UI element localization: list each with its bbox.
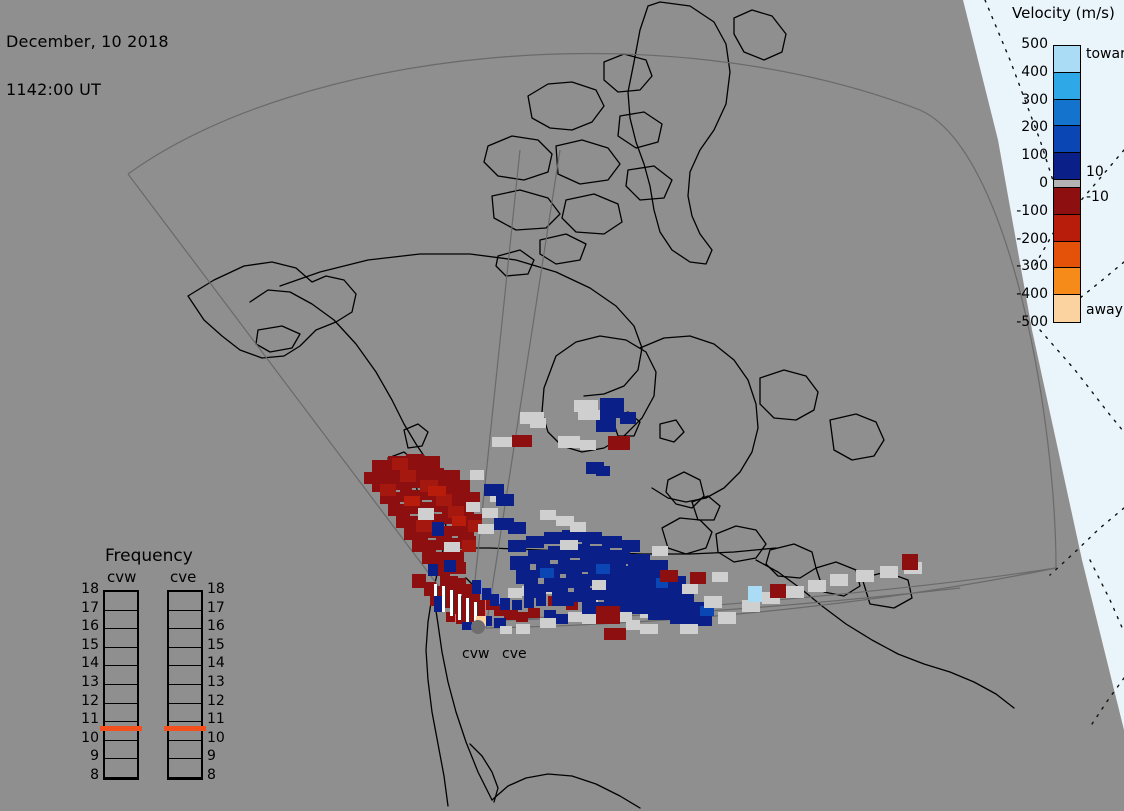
frequency-segment [169, 629, 201, 648]
frequency-tick: 18 [207, 581, 229, 597]
frequency-segment [169, 685, 201, 704]
frequency-tick: 11 [207, 711, 229, 727]
frequency-segment [169, 704, 201, 723]
frequency-segment [105, 741, 137, 760]
frequency-tick: 17 [207, 600, 229, 616]
colorbar-tick: -100 [1016, 203, 1048, 219]
frequency-segment [105, 704, 137, 723]
frequency-column-label-cvw: cvw [107, 568, 136, 586]
site-label-cvw: cvw [462, 646, 489, 662]
colorbar-tick: 0 [1039, 175, 1048, 191]
frequency-segment [169, 759, 201, 778]
timestamp-time: 1142:00 UT [6, 82, 169, 98]
colorbar-band [1054, 126, 1080, 153]
toward-label: toward [1086, 46, 1124, 62]
frequency-segment [169, 741, 201, 760]
frequency-tick: 13 [207, 674, 229, 690]
frequency-tick: 12 [207, 693, 229, 709]
frequency-tick: 15 [207, 637, 229, 653]
colorbar-tick: -400 [1016, 286, 1048, 302]
frequency-tick: 11 [77, 711, 99, 727]
frequency-column-label-cve: cve [170, 568, 196, 586]
frequency-tick: 9 [77, 748, 99, 764]
frequency-segment [169, 592, 201, 611]
frequency-segment [105, 759, 137, 778]
frequency-marker [164, 726, 206, 731]
colorbar-band [1054, 153, 1080, 180]
frequency-segment [105, 611, 137, 630]
velocity-colorbar [1053, 45, 1081, 323]
velocity-legend-title: Velocity (m/s) [1012, 4, 1115, 22]
frequency-segment [105, 629, 137, 648]
frequency-tick: 9 [207, 748, 229, 764]
frequency-tick: 8 [207, 767, 229, 783]
colorbar-band [1054, 180, 1080, 188]
colorbar-band [1054, 242, 1080, 269]
colorbar-tick: 200 [1021, 119, 1048, 135]
colorbar-band [1054, 188, 1080, 215]
frequency-tick: 15 [77, 637, 99, 653]
away-label: away [1086, 302, 1123, 318]
velocity-legend: Velocity (m/s) 5004003002001000-100-200-… [1008, 2, 1124, 332]
colorbar-tick: 500 [1021, 36, 1048, 52]
colorbar-band [1054, 215, 1080, 242]
colorbar-band [1054, 295, 1080, 322]
colorbar-tick: 300 [1021, 92, 1048, 108]
colorbar-band [1054, 73, 1080, 100]
frequency-tick: 18 [77, 581, 99, 597]
colorbar-band [1054, 268, 1080, 295]
radar-site-dot [471, 620, 485, 634]
colorbar-tick: 100 [1021, 147, 1048, 163]
frequency-segment [105, 666, 137, 685]
frequency-tick: 10 [77, 730, 99, 746]
frequency-tick: 17 [77, 600, 99, 616]
timestamp-date: December, 10 2018 [6, 34, 169, 50]
frequency-legend-title: Frequency [105, 546, 193, 566]
colorbar-band [1054, 46, 1080, 73]
frequency-segment [169, 648, 201, 667]
frequency-tick: 12 [77, 693, 99, 709]
frequency-tick: 16 [77, 618, 99, 634]
radar-fan-plot: December, 10 2018 1142:00 UT Velocity (m… [0, 0, 1124, 811]
velocity-neg-threshold-label: -10 [1086, 189, 1109, 205]
colorbar-tick: 400 [1021, 64, 1048, 80]
frequency-bar-cve [167, 590, 203, 780]
frequency-legend: Frequency cvw cve 18171615141312111098 1… [85, 546, 237, 786]
colorbar-band [1054, 100, 1080, 127]
frequency-tick: 14 [77, 655, 99, 671]
frequency-segment [105, 648, 137, 667]
frequency-segment [169, 666, 201, 685]
frequency-segment [169, 611, 201, 630]
frequency-segment [105, 592, 137, 611]
colorbar-tick: -300 [1016, 258, 1048, 274]
frequency-tick: 10 [207, 730, 229, 746]
frequency-tick: 16 [207, 618, 229, 634]
colorbar-tick: -200 [1016, 231, 1048, 247]
frequency-tick: 8 [77, 767, 99, 783]
frequency-marker [100, 726, 142, 731]
site-label-cve: cve [502, 646, 527, 662]
frequency-segment [105, 685, 137, 704]
frequency-tick: 13 [77, 674, 99, 690]
colorbar-tick: -500 [1016, 314, 1048, 330]
velocity-pos-threshold-label: 10 [1086, 164, 1104, 180]
timestamp: December, 10 2018 1142:00 UT [6, 2, 169, 130]
frequency-tick: 14 [207, 655, 229, 671]
frequency-bar-cvw [103, 590, 139, 780]
